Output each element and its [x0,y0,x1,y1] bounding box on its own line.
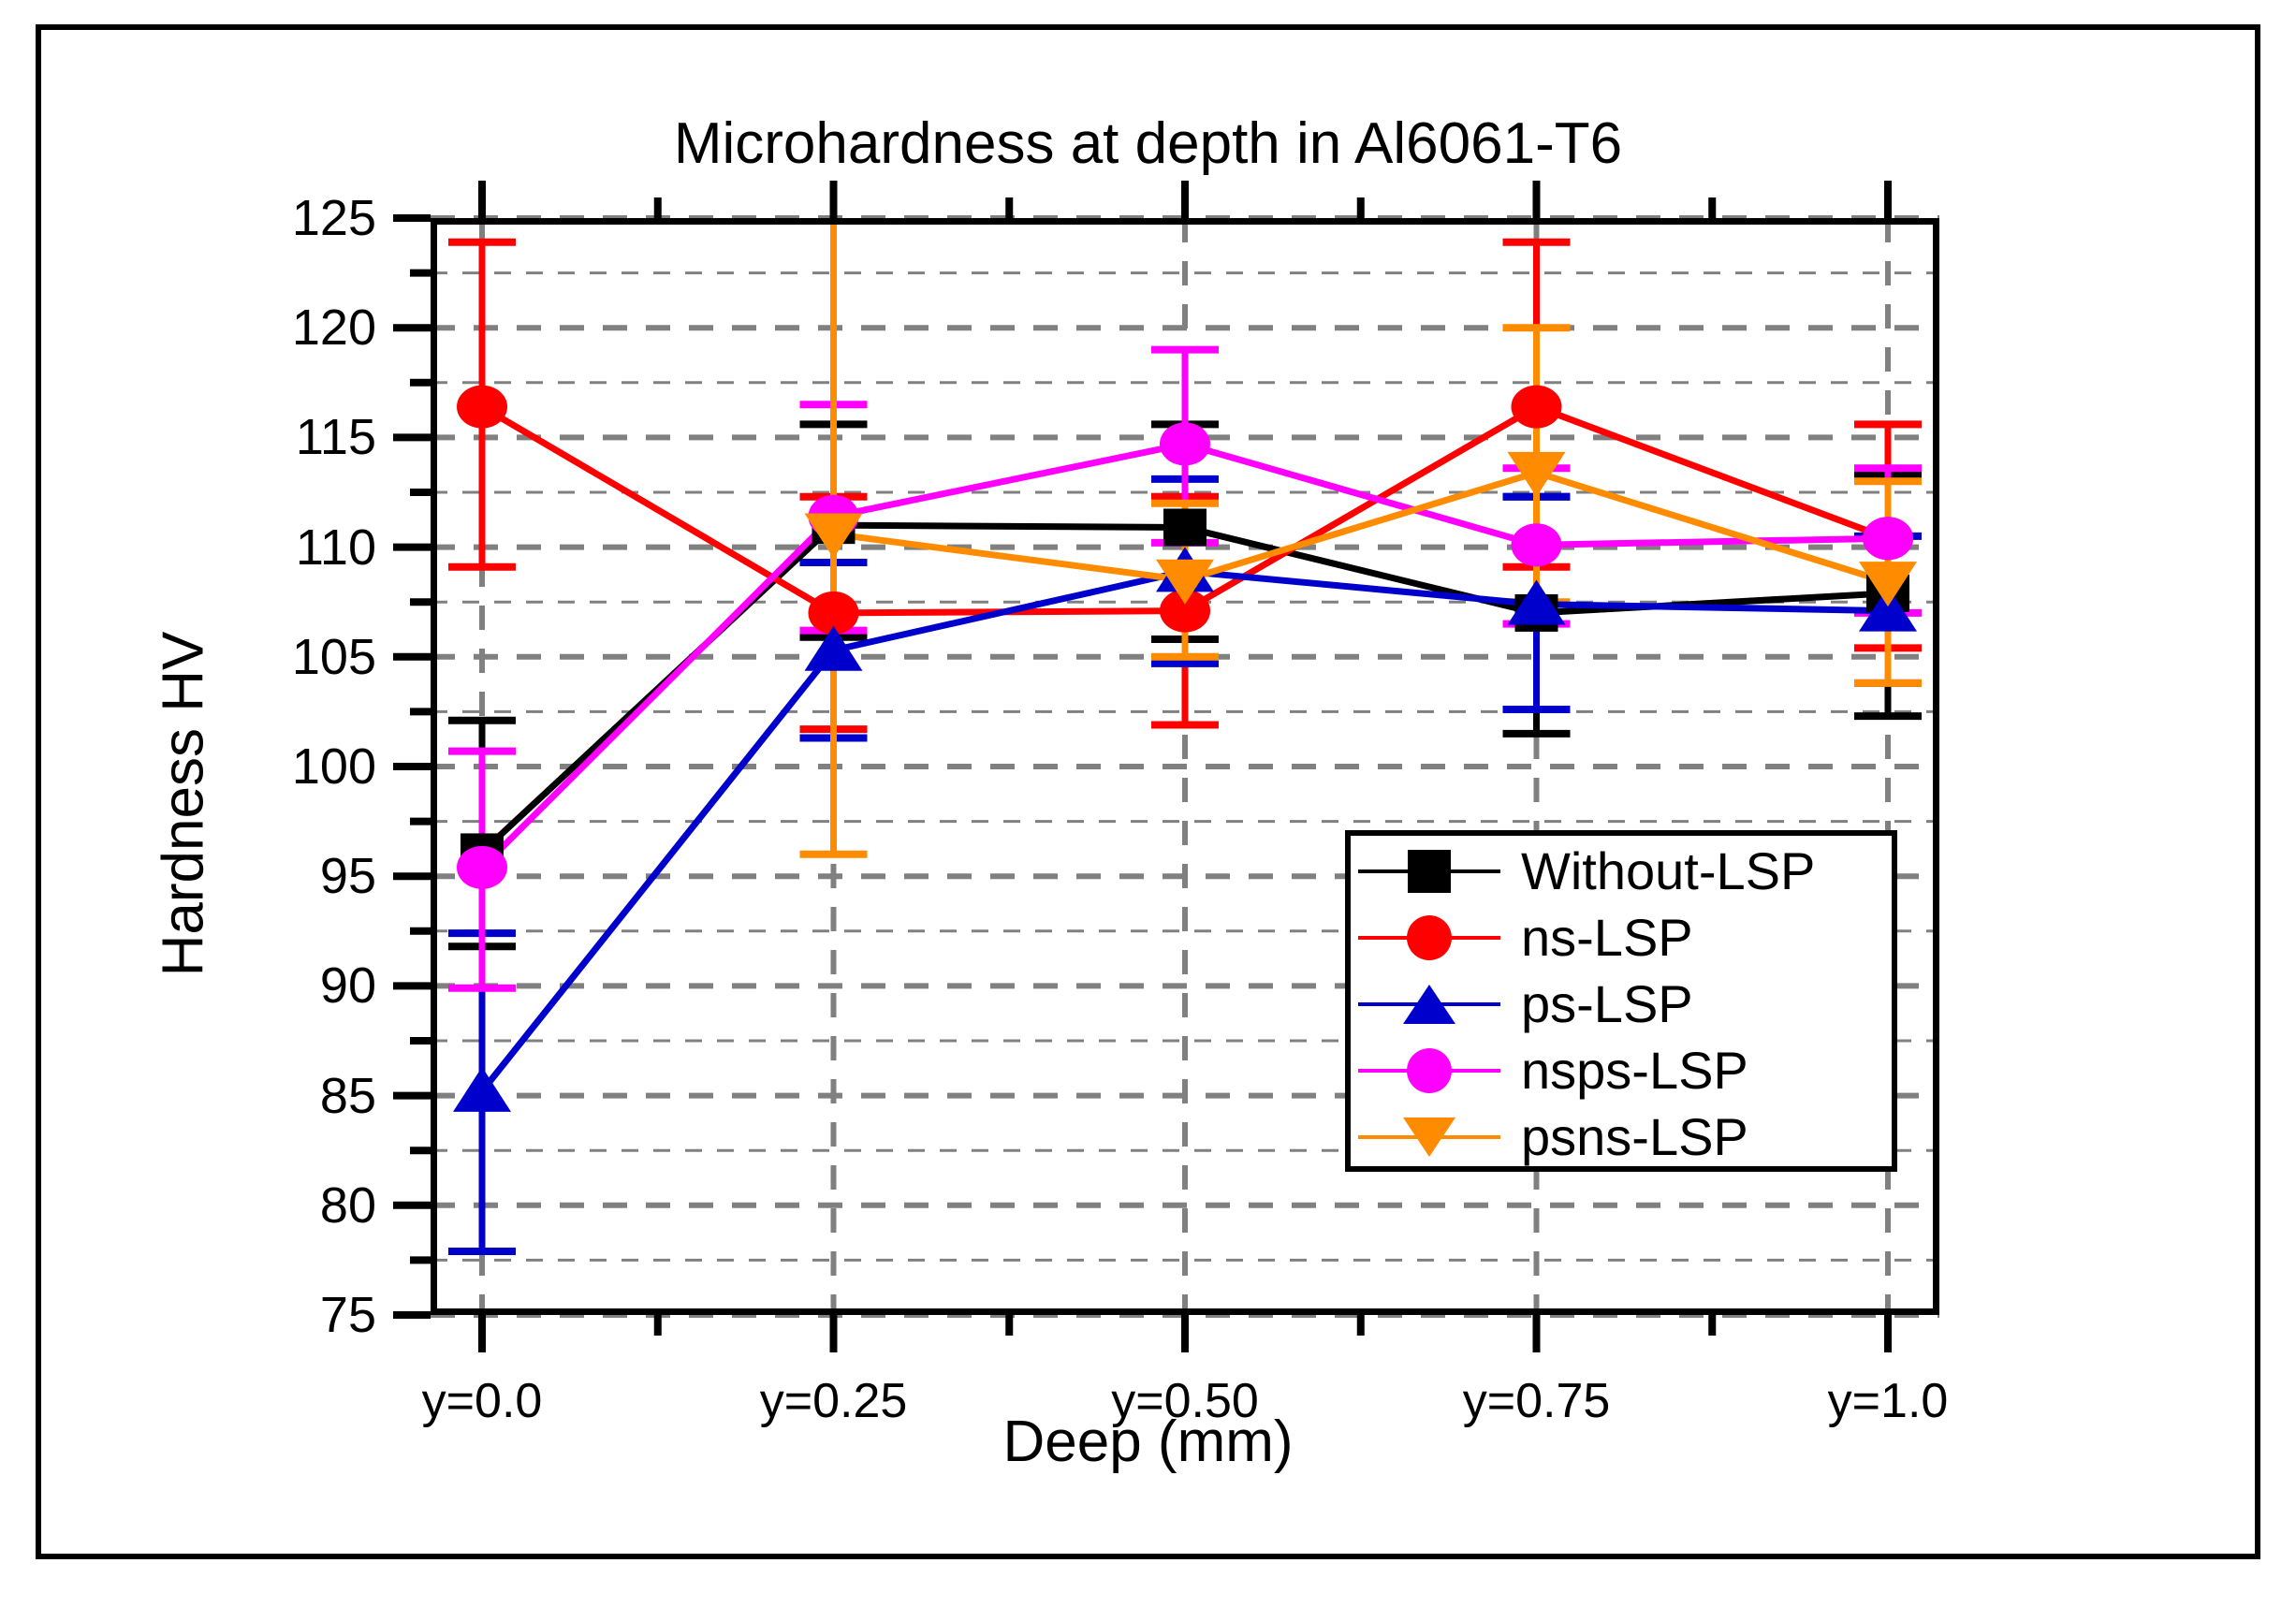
legend: Without-LSPns-LSPps-LSPnsps-LSPpsns-LSP [1345,830,1897,1172]
legend-item-ns-lsp[interactable]: ns-LSP [1351,906,1892,969]
legend-label: psns-LSP [1521,1111,1748,1163]
legend-item-nsps-lsp[interactable]: nsps-LSP [1351,1039,1892,1102]
legend-label: ps-LSP [1521,978,1693,1030]
legend-marker-triangle-up-icon [1358,976,1500,1032]
legend-label: nsps-LSP [1521,1045,1748,1097]
legend-label: Without-LSP [1521,845,1815,898]
legend-label: ns-LSP [1521,912,1693,964]
legend-marker-circle-icon [1358,910,1500,966]
legend-marker-circle-icon [1358,1043,1500,1099]
legend-item-without-lsp[interactable]: Without-LSP [1351,840,1892,902]
figure-canvas: Microhardness at depth in Al6061-T6 Hard… [0,0,2296,1607]
legend-marker-square-icon [1358,843,1500,899]
axis-ticks [0,0,2296,1607]
legend-item-psns-lsp[interactable]: psns-LSP [1351,1105,1892,1168]
legend-marker-triangle-down-icon [1358,1109,1500,1165]
legend-item-ps-lsp[interactable]: ps-LSP [1351,972,1892,1035]
